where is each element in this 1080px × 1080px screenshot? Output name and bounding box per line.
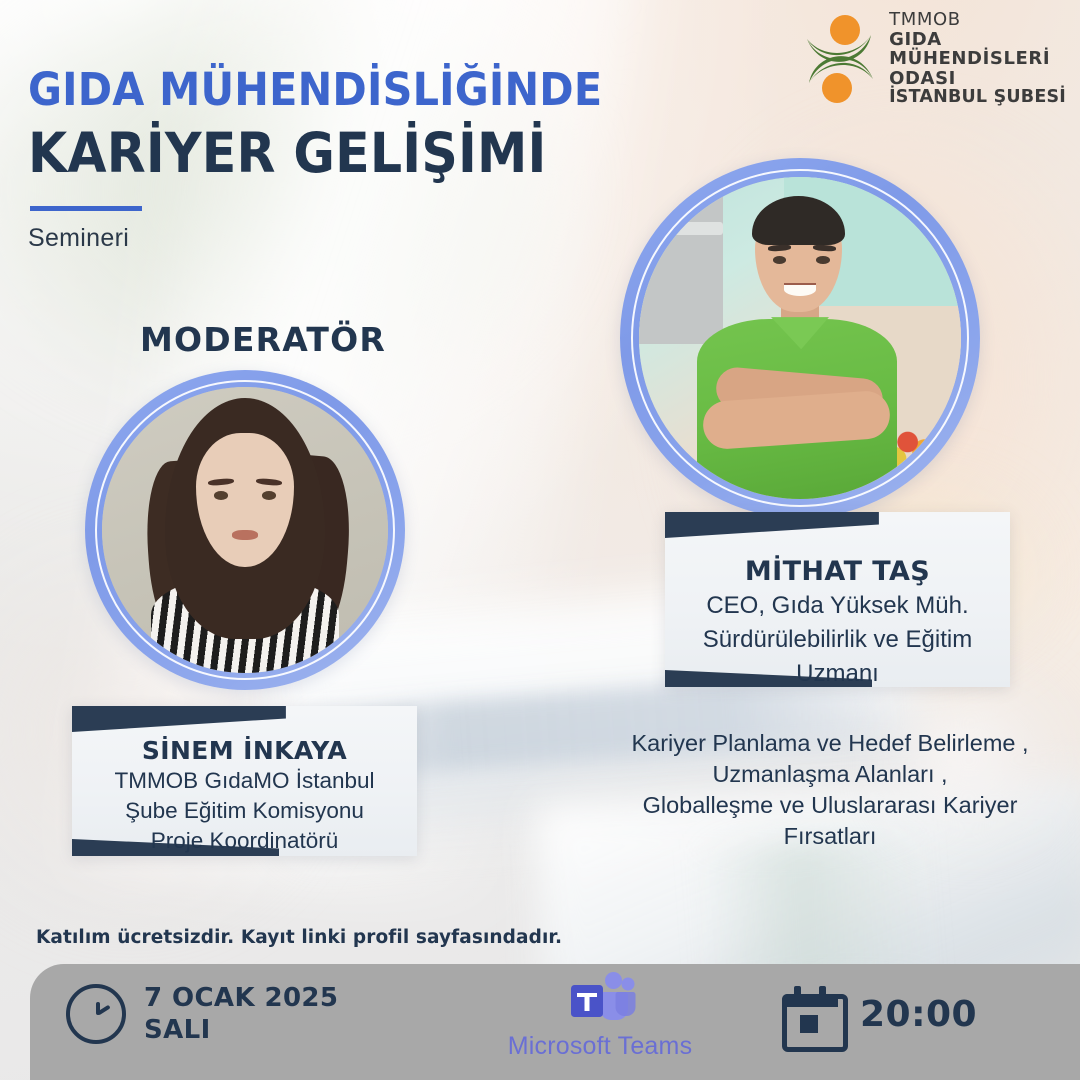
page-title: GIDA MÜHENDİSLİĞİNDE KARİYER GELİŞİMİ Se… <box>28 64 652 253</box>
title-line-1: GIDA MÜHENDİSLİĞİNDE <box>28 64 602 116</box>
event-date: 7 OCAK 2025 <box>144 982 338 1014</box>
clock-icon <box>66 984 126 1044</box>
title-line-2: KARİYER GELİŞİMİ <box>28 122 602 184</box>
topic-line-1: Kariyer Planlama ve Hedef Belirleme , <box>600 728 1060 759</box>
calendar-icon <box>782 986 838 1042</box>
speaker-portrait-photo <box>639 177 961 499</box>
logo-line-2: GIDA <box>889 30 1066 50</box>
logo-line-5: İSTANBUL ŞUBESİ <box>889 88 1066 108</box>
speaker-avatar <box>620 158 980 518</box>
speaker-role-line-2: Sürdürülebilirlik ve Eğitim <box>679 625 996 655</box>
date-text-block: 7 OCAK 2025 SALI <box>144 982 338 1046</box>
moderator-portrait-photo <box>102 387 388 673</box>
event-day: SALI <box>144 1014 338 1046</box>
logo-line-3: MÜHENDİSLERİ <box>889 49 1066 69</box>
tmmob-leaf-logo-icon <box>801 11 881 107</box>
tmmob-logo: TMMOB GIDA MÜHENDİSLERİ ODASI İSTANBUL Ş… <box>801 10 1066 108</box>
moderator-info-card: SİNEM İNKAYA TMMOB GıdaMO İstanbul Şube … <box>72 706 417 856</box>
tmmob-logo-text: TMMOB GIDA MÜHENDİSLERİ ODASI İSTANBUL Ş… <box>889 10 1066 108</box>
logo-line-4: ODASI <box>889 69 1066 89</box>
title-divider <box>30 206 142 211</box>
topic-line-4: Fırsatları <box>600 821 1060 852</box>
footer-bar: 7 OCAK 2025 SALI Microsoft Teams <box>30 964 1080 1080</box>
moderator-section-label: MODERATÖR <box>140 320 386 359</box>
logo-line-1: TMMOB <box>889 10 1066 30</box>
moderator-name: SİNEM İNKAYA <box>84 736 405 765</box>
moderator-role-line-2: Şube Eğitim Komisyonu <box>84 797 405 825</box>
platform-group: Microsoft Teams <box>485 970 715 1061</box>
speaker-info-card: MİTHAT TAŞ CEO, Gıda Yüksek Müh. Sürdürü… <box>665 512 1010 687</box>
moderator-role-line-1: TMMOB GıdaMO İstanbul <box>84 767 405 795</box>
topic-line-3: Globalleşme ve Uluslararası Kariyer <box>600 790 1060 821</box>
topics-list: Kariyer Planlama ve Hedef Belirleme , Uz… <box>600 728 1060 852</box>
free-participation-note: Katılım ücretsizdir. Kayıt linki profil … <box>36 927 562 948</box>
time-group: 20:00 <box>782 986 977 1042</box>
moderator-role-line-3: Proje Koordinatörü <box>84 827 405 855</box>
seminar-poster: GIDA MÜHENDİSLİĞİNDE KARİYER GELİŞİMİ Se… <box>0 0 1080 1080</box>
event-time: 20:00 <box>860 994 977 1035</box>
speaker-role-line-3: Uzmanı <box>679 659 996 689</box>
platform-label: Microsoft Teams <box>485 1032 715 1061</box>
topic-line-2: Uzmanlaşma Alanları , <box>600 759 1060 790</box>
speaker-name: MİTHAT TAŞ <box>679 556 996 587</box>
title-subtitle: Semineri <box>28 224 652 253</box>
moderator-avatar <box>85 370 405 690</box>
microsoft-teams-icon <box>563 970 637 1030</box>
date-group: 7 OCAK 2025 SALI <box>66 982 338 1046</box>
speaker-role-line-1: CEO, Gıda Yüksek Müh. <box>679 591 996 621</box>
